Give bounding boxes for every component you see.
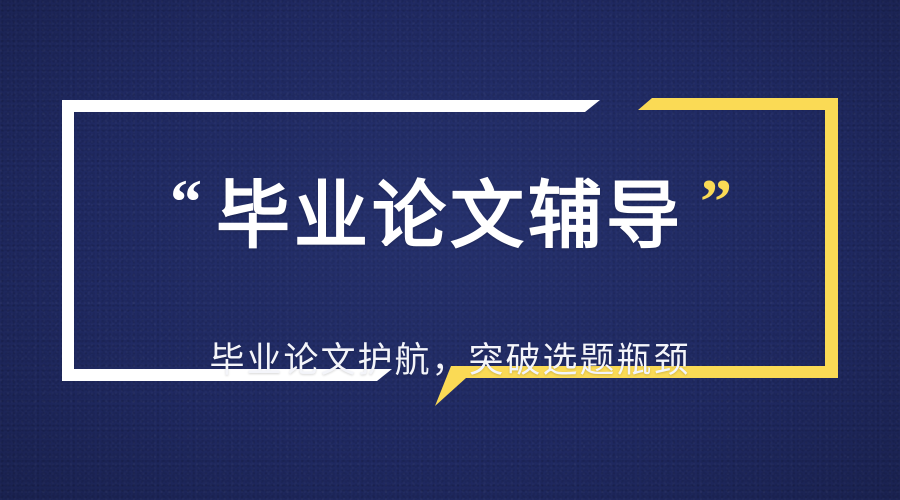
close-quote-icon: ” — [700, 170, 730, 234]
poster-canvas: “ 毕业论文辅导 ” 毕业论文护航，突破选题瓶颈 — [0, 0, 900, 500]
page-subtitle: 毕业论文护航，突破选题瓶颈 — [209, 332, 690, 383]
title-row: “ 毕业论文辅导 ” — [170, 127, 730, 304]
poster-text-block: “ 毕业论文辅导 ” 毕业论文护航，突破选题瓶颈 — [0, 0, 900, 500]
open-quote-icon: “ — [170, 170, 200, 234]
page-title: 毕业论文辅导 — [216, 177, 684, 255]
